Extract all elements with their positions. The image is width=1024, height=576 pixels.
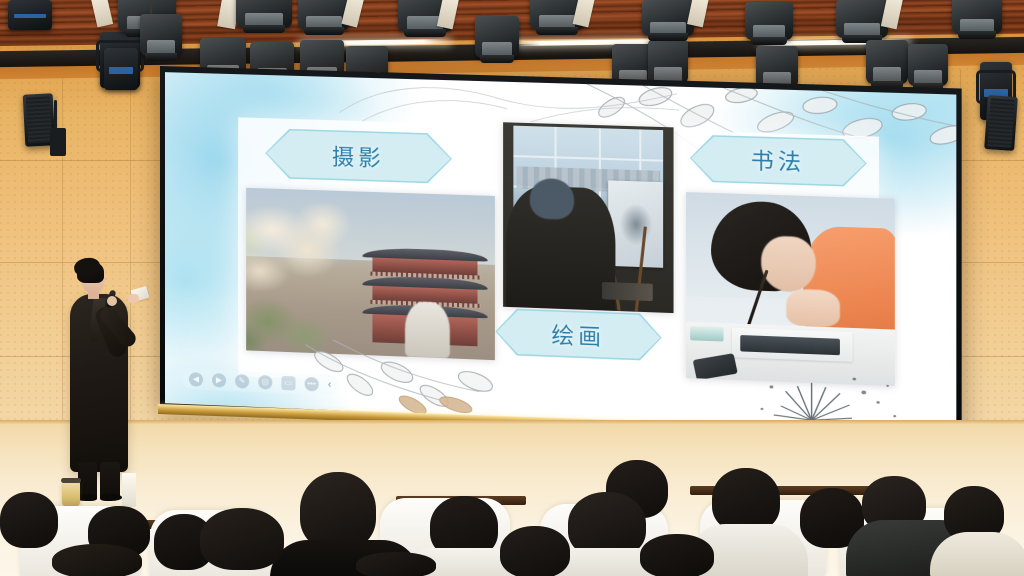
prev-slide-icon[interactable]: ◀ (189, 372, 203, 387)
label-calligraphy[interactable]: 书法 (690, 134, 867, 187)
fresnel-spotlight (836, 0, 888, 38)
label-painting-text: 绘画 (551, 317, 605, 352)
attendee-head (52, 544, 142, 576)
speaker-bracket (50, 128, 66, 156)
fresnel-spotlight (745, 2, 793, 40)
fresnel-spotlight (475, 16, 519, 58)
led-wall[interactable]: 摄影 绘画 书法 (160, 66, 962, 445)
spotlight-fixture (642, 0, 694, 36)
speaker-bracket (54, 100, 57, 132)
attendee-head (640, 534, 714, 576)
attendee-head (300, 472, 376, 550)
presentation-slide: 摄影 绘画 书法 (165, 72, 956, 436)
auditorium-scene: 摄影 绘画 书法 (0, 0, 1024, 576)
attendee-head (200, 508, 284, 570)
fresnel-spotlight (952, 0, 1002, 34)
attendee-head (500, 526, 570, 576)
label-calligraphy-text: 书法 (751, 143, 806, 177)
attendee-head (0, 492, 58, 548)
moving-head-light (8, 0, 52, 30)
highlighter-tool-icon[interactable]: ▭ (281, 376, 295, 391)
attendee-head (356, 552, 436, 576)
spotlight-fixture (236, 0, 292, 28)
calligraphy-photo[interactable] (686, 192, 896, 386)
painter-photo[interactable] (503, 122, 674, 313)
next-slide-icon[interactable]: ▶ (212, 373, 226, 388)
pointer-tool-icon[interactable]: ◎ (258, 375, 272, 390)
presenter-hand-mic (107, 296, 117, 306)
more-options-icon[interactable]: ••• (304, 377, 318, 392)
presenter-hand-notes (128, 294, 139, 303)
pen-tool-icon[interactable]: ✎ (235, 374, 249, 389)
audience (0, 448, 1024, 576)
pavilion-photo[interactable] (246, 187, 496, 360)
fresnel-spotlight (648, 40, 688, 84)
collapse-toolbar-icon[interactable]: ‹ (328, 379, 332, 391)
attendee-head (712, 468, 780, 532)
right-wall-speaker (984, 95, 1018, 151)
screen-surface: 摄影 绘画 书法 (165, 72, 956, 436)
fresnel-spotlight (140, 14, 182, 56)
spotlight-fixture (298, 0, 350, 30)
fresnel-spotlight (756, 46, 798, 88)
label-photography-text: 摄影 (332, 139, 385, 173)
screen-bezel: 摄影 绘画 书法 (160, 66, 962, 445)
fresnel-spotlight (866, 40, 908, 84)
label-photography[interactable]: 摄影 (265, 128, 452, 184)
label-painting[interactable]: 绘画 (495, 308, 661, 361)
fresnel-spotlight (908, 44, 948, 86)
moving-head-light (104, 48, 138, 90)
